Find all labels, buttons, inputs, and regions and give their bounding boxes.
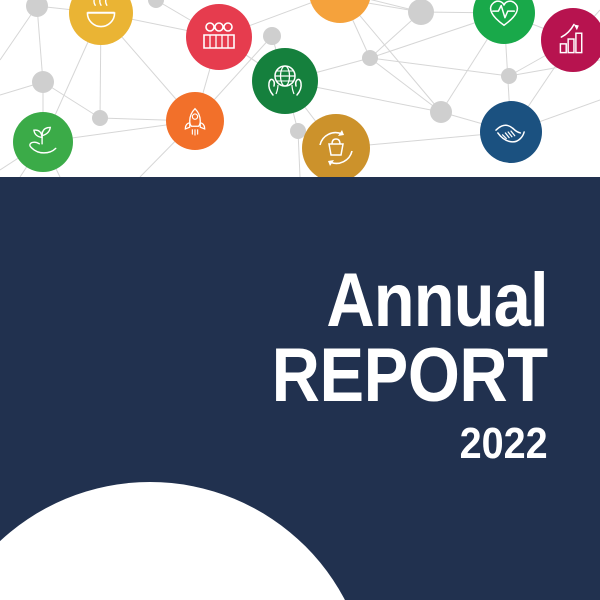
node-3: [92, 110, 108, 126]
node-8: [408, 0, 434, 25]
heart-pulse-icon: [473, 0, 535, 44]
corner-circle: [0, 482, 370, 600]
globe-in-hands-icon: [252, 48, 318, 114]
plant-in-hand-icon-disc: [13, 112, 73, 172]
node-5: [290, 123, 306, 139]
growth-chart-icon: [541, 8, 600, 72]
node-6: [362, 50, 378, 66]
title-year: 2022: [266, 416, 548, 471]
plant-in-hand-icon: [13, 112, 73, 172]
handshake-icon: [480, 101, 542, 163]
recycle-basket-icon-disc: [302, 114, 370, 177]
node-9: [430, 101, 452, 123]
growth-chart-icon-disc: [541, 8, 600, 72]
cover-title-block: Annual REPORT 2022: [234, 265, 548, 471]
rocket-icon: [166, 92, 224, 150]
people-group-icon: [186, 4, 252, 70]
heart-pulse-icon-disc: [473, 0, 535, 44]
node-2: [32, 71, 54, 93]
network-link: [37, 6, 43, 82]
network-graphic-band: [0, 0, 600, 177]
recycle-basket-icon: [302, 114, 370, 177]
partial-top-icon-disc: [309, 0, 371, 23]
people-group-icon-disc: [186, 4, 252, 70]
node-10: [501, 68, 517, 84]
node-11: [148, 0, 164, 8]
partial-top-icon: [309, 0, 371, 23]
report-cover: Annual REPORT 2022: [0, 0, 600, 600]
rocket-icon-disc: [166, 92, 224, 150]
node-1: [26, 0, 48, 17]
network-icon-nodes: [13, 0, 600, 177]
title-line-report: REPORT: [272, 336, 548, 416]
node-4: [263, 27, 281, 45]
network-svg: [0, 0, 600, 177]
title-line-annual: Annual: [272, 265, 548, 336]
